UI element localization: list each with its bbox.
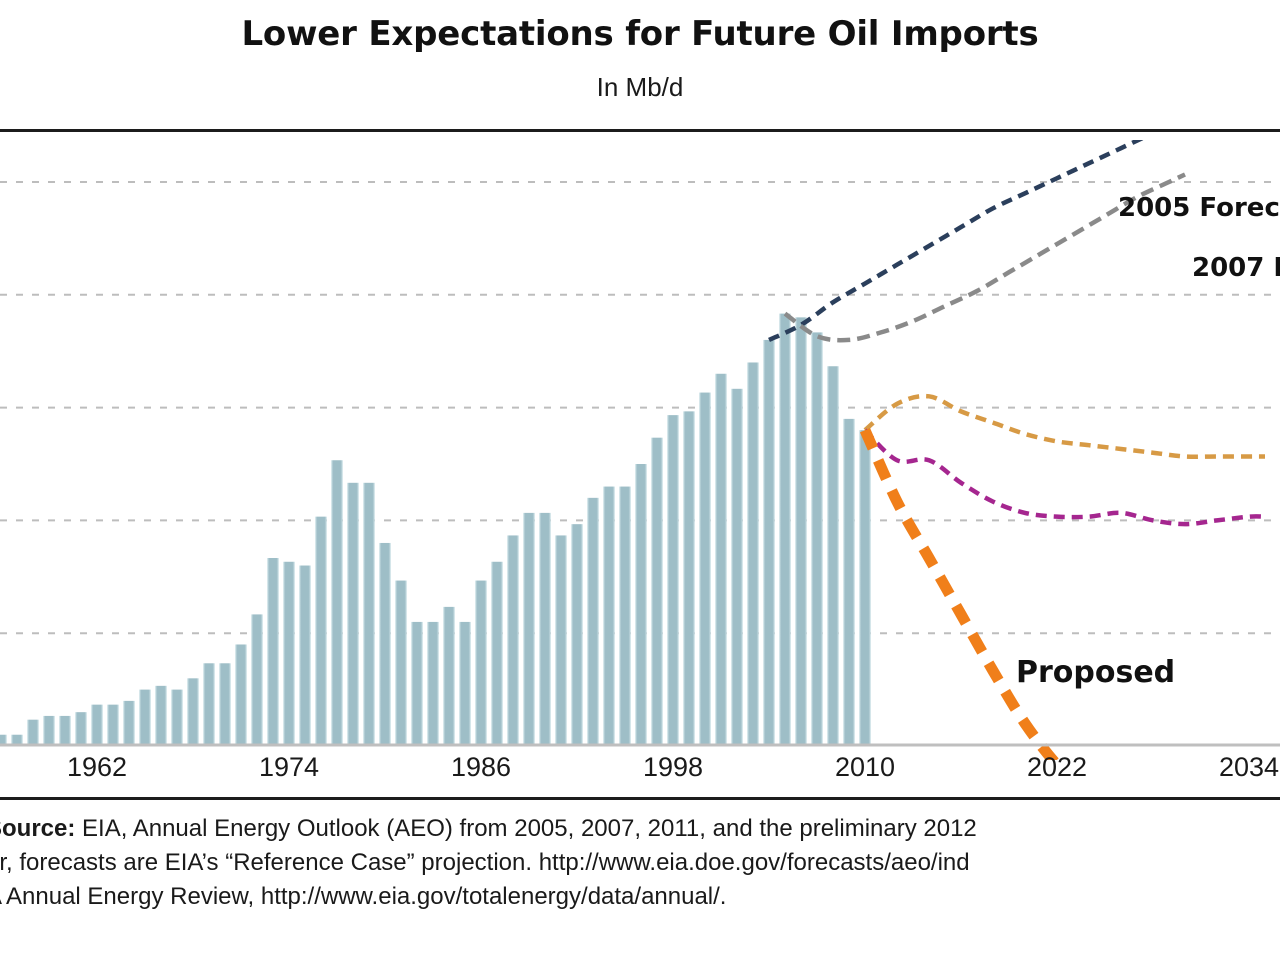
forecast-line: [865, 430, 1073, 760]
bar: [43, 716, 55, 745]
bar: [315, 517, 327, 745]
footnote-source-label: Source:: [0, 815, 75, 842]
bar: [0, 735, 7, 745]
x-tick-label-1986: 1986: [451, 752, 511, 783]
bar: [427, 622, 439, 745]
bar: [699, 393, 711, 745]
bar: [59, 716, 71, 745]
footnote-line-1: Source: EIA, Annual Energy Outlook (AEO)…: [0, 812, 1280, 846]
header-divider: [0, 129, 1280, 132]
footnote-line-1-text: EIA, Annual Energy Outlook (AEO) from 20…: [82, 815, 977, 842]
bar: [395, 581, 407, 745]
bar: [603, 487, 615, 745]
bar: [235, 644, 247, 745]
bar: [267, 558, 279, 745]
bar: [155, 686, 167, 745]
x-tick-label-2034: 2034: [1219, 752, 1279, 783]
x-tick-label-2010: 2010: [835, 752, 895, 783]
bar: [347, 483, 359, 745]
bar: [523, 513, 535, 745]
bar: [507, 535, 519, 745]
bar: [795, 317, 807, 745]
x-tick-label-1962: 1962: [67, 752, 127, 783]
bar: [187, 678, 199, 745]
footnote-line-3: A Annual Energy Review, http://www.eia.g…: [0, 880, 1280, 914]
bar: [283, 562, 295, 745]
bar: [123, 701, 135, 745]
bar: [859, 430, 871, 745]
footer-divider: [0, 797, 1280, 800]
forecast-line: [865, 396, 1265, 457]
bar: [203, 663, 215, 745]
bar: [811, 332, 823, 745]
bar: [27, 720, 39, 745]
annotation-proposed: Proposed: [1016, 655, 1175, 690]
bars-group: [0, 314, 871, 745]
footnote-line-2: ar, forecasts are EIA’s “Reference Case”…: [0, 846, 1280, 880]
bar: [763, 340, 775, 745]
bar: [107, 705, 119, 745]
bar: [619, 487, 631, 745]
bar: [411, 622, 423, 745]
bar: [651, 438, 663, 745]
chart-page: Lower Expectations for Future Oil Import…: [0, 0, 1280, 960]
bar: [843, 419, 855, 745]
bar: [171, 690, 183, 745]
bar: [379, 543, 391, 745]
annotation-2005-forecast: 2005 Forecast: [1118, 193, 1280, 223]
bar: [251, 614, 263, 745]
bar: [587, 498, 599, 745]
bar: [715, 374, 727, 745]
bar: [683, 411, 695, 745]
bar: [219, 663, 231, 745]
bar: [443, 607, 455, 745]
bar: [475, 581, 487, 745]
bar: [299, 566, 311, 745]
bar: [11, 735, 23, 745]
bar: [75, 712, 87, 745]
bar: [571, 524, 583, 745]
x-axis-labels: 1962197419861998201020222034: [0, 752, 1280, 798]
bar: [139, 690, 151, 745]
bar: [491, 562, 503, 745]
bar: [91, 705, 103, 745]
bar: [667, 415, 679, 745]
x-tick-label-1998: 1998: [643, 752, 703, 783]
annotation-2007-forecast: 2007 Forecast: [1192, 253, 1280, 283]
bar: [747, 362, 759, 745]
bar: [555, 535, 567, 745]
bar: [827, 366, 839, 745]
bar: [459, 622, 471, 745]
x-tick-label-2022: 2022: [1027, 752, 1087, 783]
source-footnote: Source: EIA, Annual Energy Outlook (AEO)…: [0, 812, 1280, 914]
bar: [779, 314, 791, 745]
x-tick-label-1974: 1974: [259, 752, 319, 783]
bar: [539, 513, 551, 745]
page-subtitle: In Mb/d: [0, 72, 1280, 103]
forecast-line: [769, 140, 1185, 340]
bar: [635, 464, 647, 745]
bar: [731, 389, 743, 745]
page-title: Lower Expectations for Future Oil Import…: [0, 14, 1280, 54]
bar: [363, 483, 375, 745]
bar: [331, 460, 343, 745]
